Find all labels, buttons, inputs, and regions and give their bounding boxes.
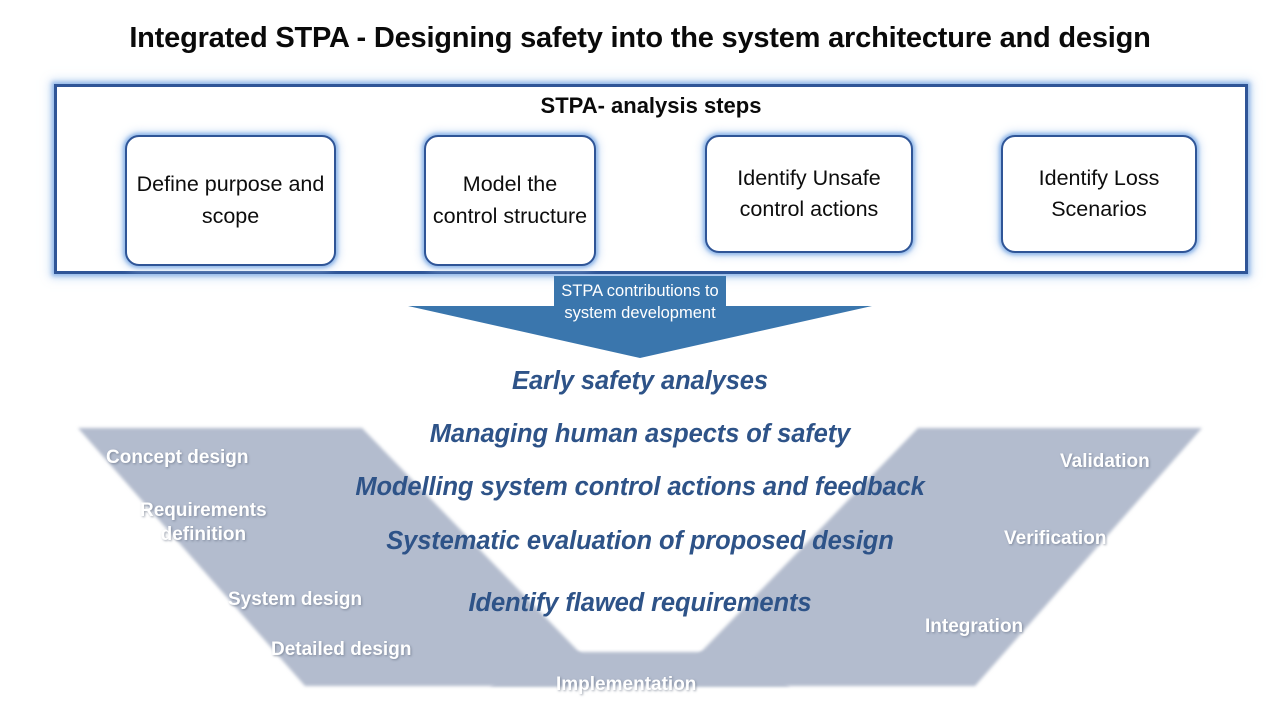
contribution-managing-human-aspects-of-safety: Managing human aspects of safety xyxy=(0,420,1280,449)
contribution-identify-flawed-requirements: Identify flawed requirements xyxy=(0,589,1280,618)
stpa-step-identify-unsafe-control-actions[interactable]: Identify Unsafe control actions xyxy=(705,135,913,253)
arrow-shape xyxy=(408,276,872,358)
stpa-step-model-the-control-structure[interactable]: Model the control structure xyxy=(424,135,596,266)
contribution-systematic-evaluation-of-proposed-design: Systematic evaluation of proposed design xyxy=(0,527,1280,556)
contribution-early-safety-analyses: Early safety analyses xyxy=(0,367,1280,396)
page-title: Integrated STPA - Designing safety into … xyxy=(0,22,1280,55)
v-stage-implementation: Implementation xyxy=(556,673,696,697)
stpa-contributions-arrow: STPA contributions tosystem development xyxy=(408,276,872,358)
stpa-analysis-steps-panel: STPA- analysis steps Define purpose and … xyxy=(54,84,1248,274)
v-stage-requirements-line1: Requirements xyxy=(140,500,267,521)
stpa-step-identify-loss-scenarios[interactable]: Identify Loss Scenarios xyxy=(1001,135,1197,253)
stpa-analysis-steps-heading: STPA- analysis steps xyxy=(57,93,1245,119)
v-stage-validation: Validation xyxy=(1060,450,1150,474)
stpa-step-define-purpose-and-scope[interactable]: Define purpose and scope xyxy=(125,135,336,266)
contribution-modelling-system-control-actions-and-feedback: Modelling system control actions and fee… xyxy=(0,473,1280,502)
v-stage-concept-design: Concept design xyxy=(106,446,249,470)
v-stage-detailed-design: Detailed design xyxy=(271,638,411,662)
v-stage-integration: Integration xyxy=(925,615,1023,639)
